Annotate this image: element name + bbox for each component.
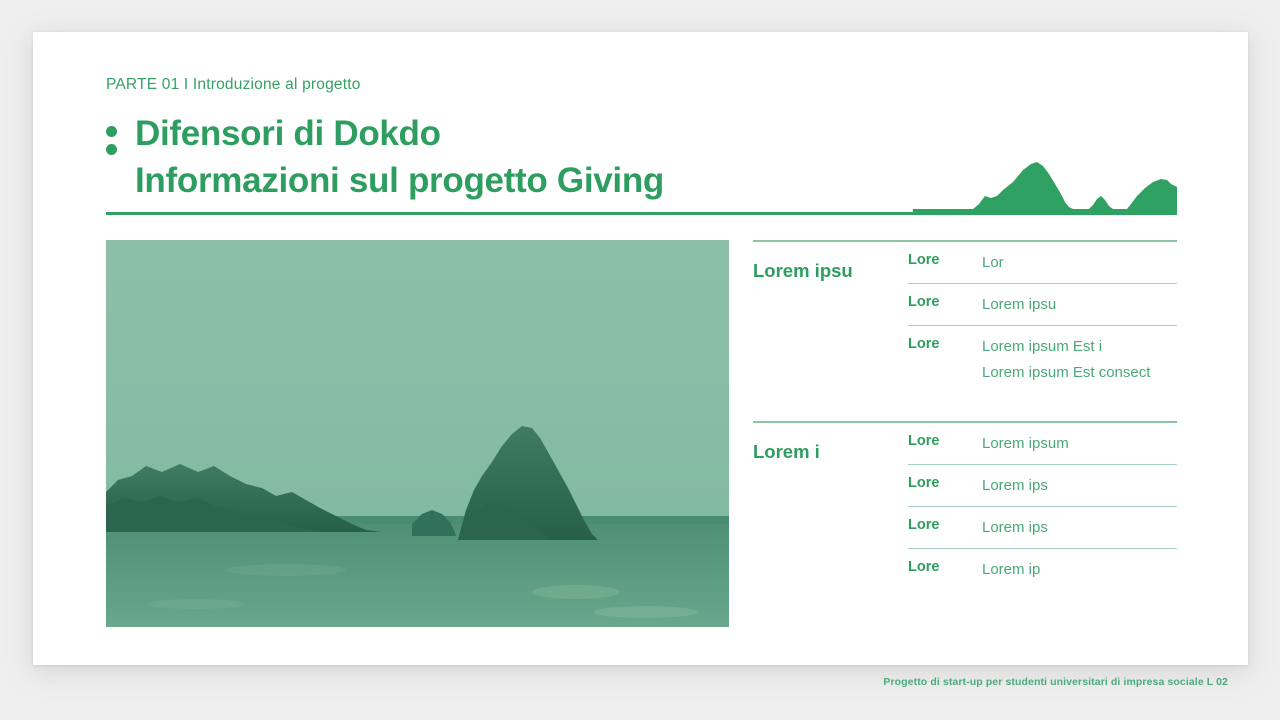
info-group-2: Lorem i Lore Lorem ipsum Lore Lorem ips bbox=[753, 421, 1177, 590]
row-value: Lorem ipsum bbox=[982, 431, 1177, 457]
footer-caption: Progetto di start-up per studenti univer… bbox=[0, 676, 1228, 688]
row-label: Lore bbox=[908, 292, 982, 312]
table-row: Lore Lorem ipsu bbox=[908, 284, 1177, 326]
group-spacer bbox=[753, 393, 1177, 421]
island-silhouette-icon bbox=[913, 160, 1177, 212]
page-title-line-1: Difensori di Dokdo bbox=[135, 110, 1006, 157]
group-rows: Lore Lorem ipsum Lore Lorem ips bbox=[908, 423, 1177, 590]
row-label: Lore bbox=[908, 431, 982, 451]
title-block: Difensori di Dokdo Informazioni sul prog… bbox=[106, 110, 1006, 204]
table-row: Lore Lorem ip bbox=[908, 549, 1177, 590]
row-value-line: Lorem ipsum Est i bbox=[982, 334, 1177, 360]
table-row: Lore Lorem ipsum Est i Lorem ipsum Est c… bbox=[908, 326, 1177, 393]
eyebrow-label: PARTE 01 I Introduzione al progetto bbox=[106, 76, 361, 94]
sea-stacks-photo bbox=[106, 240, 729, 627]
row-value-line: Lor bbox=[982, 250, 1177, 276]
row-value-line: Lorem ips bbox=[982, 515, 1177, 541]
slide-stage: PARTE 01 I Introduzione al progetto Dife… bbox=[0, 0, 1280, 720]
row-value-line: Lorem ipsum bbox=[982, 431, 1177, 457]
row-value-line: Lorem ipsu bbox=[982, 292, 1177, 318]
colon-dots-icon bbox=[106, 126, 117, 162]
row-value-line: Lorem ips bbox=[982, 473, 1177, 499]
group-title: Lorem i bbox=[753, 423, 908, 590]
row-value-line: Lorem ipsum Est consect bbox=[982, 360, 1177, 386]
row-label: Lore bbox=[908, 334, 982, 354]
group-title: Lorem ipsu bbox=[753, 242, 908, 393]
slide-card: PARTE 01 I Introduzione al progetto Dife… bbox=[33, 32, 1248, 665]
row-label: Lore bbox=[908, 250, 982, 270]
table-row: Lore Lorem ips bbox=[908, 507, 1177, 549]
table-row: Lore Lor bbox=[908, 242, 1177, 284]
row-value: Lorem ips bbox=[982, 515, 1177, 541]
row-value-line: Lorem ip bbox=[982, 557, 1177, 583]
row-label: Lore bbox=[908, 557, 982, 577]
table-row: Lore Lorem ips bbox=[908, 465, 1177, 507]
header-divider bbox=[106, 212, 1177, 215]
info-column: Lorem ipsu Lore Lor Lore Lorem ipsu bbox=[753, 240, 1177, 590]
row-value: Lorem ips bbox=[982, 473, 1177, 499]
row-label: Lore bbox=[908, 515, 982, 535]
page-title-line-2: Informazioni sul progetto Giving bbox=[135, 157, 1006, 204]
info-group-1: Lorem ipsu Lore Lor Lore Lorem ipsu bbox=[753, 240, 1177, 393]
row-value: Lor bbox=[982, 250, 1177, 276]
group-rows: Lore Lor Lore Lorem ipsu Lor bbox=[908, 242, 1177, 393]
row-label: Lore bbox=[908, 473, 982, 493]
table-row: Lore Lorem ipsum bbox=[908, 423, 1177, 465]
row-value: Lorem ipsum Est i Lorem ipsum Est consec… bbox=[982, 334, 1177, 386]
row-value: Lorem ip bbox=[982, 557, 1177, 583]
row-value: Lorem ipsu bbox=[982, 292, 1177, 318]
